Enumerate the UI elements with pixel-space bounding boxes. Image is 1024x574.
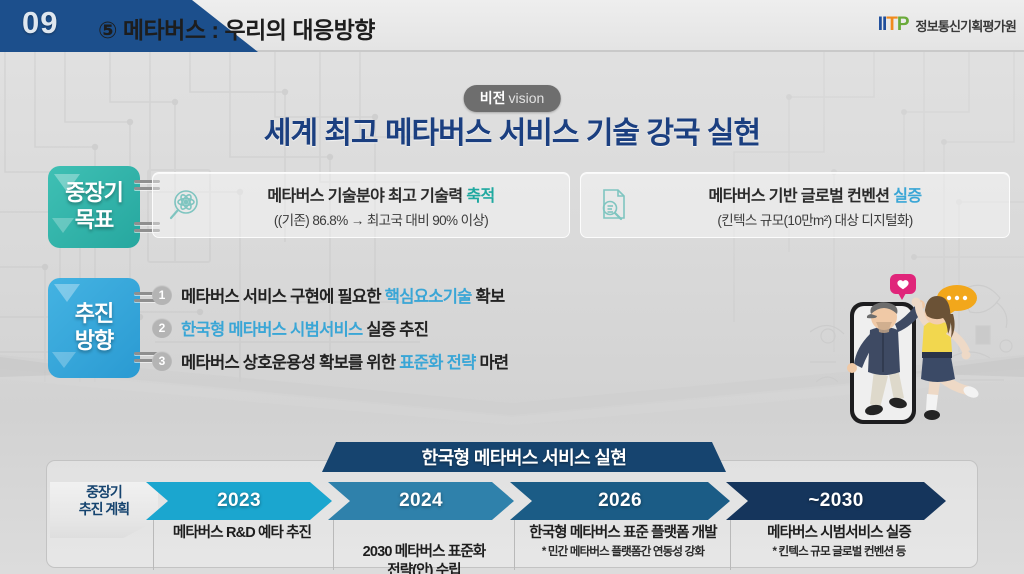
triangle-decor-icon [52, 352, 76, 368]
document-magnifier-icon [593, 187, 633, 223]
roadmap-divider [730, 520, 731, 570]
list-item-prefix: 메타버스 상호운용성 확보를 위한 [181, 354, 399, 372]
list-item-highlight: 한국형 메타버스 시범서비스 [181, 321, 363, 339]
goal-main-prefix: 메타버스 기술분야 최고 기술력 [267, 188, 466, 205]
tab-label-line1: 추진 [75, 301, 113, 328]
section-tab-midterm-goal: 중장기 목표 [48, 166, 140, 248]
roadmap-divider [514, 520, 515, 570]
list-item: 2 한국형 메타버스 시범서비스 실증 추진 [152, 311, 852, 344]
roadmap-year-2023: 2023 [146, 482, 332, 520]
organization-name: 정보통신기획평가원 [916, 16, 1016, 35]
roadmap-year-label: ~2030 [808, 490, 863, 512]
slide-root: 09 ⑤ 메타버스 : 우리의 대응방향 IITP 정보통신기획평가원 비전vi… [0, 0, 1024, 574]
roadmap-body-2023: 메타버스 R&D 예타 추진 [152, 524, 332, 543]
triangle-decor-icon [54, 284, 80, 302]
list-item-number: 1 [152, 285, 172, 305]
roadmap-body-text: 한국형 메타버스 표준 플랫폼 개발 [516, 524, 730, 543]
goal-card-text: 메타버스 기반 글로벌 컨벤션 실증 (킨텍스 규모(10만m²) 대상 디지털… [633, 182, 997, 229]
roadmap-year-2030: ~2030 [726, 482, 946, 520]
goal-card-subtext: ((기존) 86.8% → 최고국 대비 90% 이상) [205, 209, 557, 229]
goal-card-subtext: (킨텍스 규모(10만m²) 대상 디지털화) [633, 209, 997, 229]
list-item: 3 메타버스 상호운용성 확보를 위한 표준화 전략 마련 [152, 345, 852, 378]
roadmap-ribbon-title: 한국형 메타버스 서비스 실현 [322, 442, 726, 472]
list-item-suffix: 마련 [476, 354, 509, 372]
triangle-decor-icon [54, 174, 80, 192]
roadmap-label-line1: 중장기 [86, 484, 122, 501]
list-item-prefix: 메타버스 서비스 구현에 필요한 [181, 288, 385, 306]
roadmap-label-line2: 추진 계획 [79, 501, 129, 518]
list-item-label: 메타버스 서비스 구현에 필요한 핵심요소기술 확보 [181, 283, 505, 307]
list-item-suffix: 실증 추진 [363, 321, 429, 339]
metaverse-avatars-phone-illustration [810, 262, 1020, 442]
list-item-suffix: 확보 [472, 288, 505, 306]
list-item: 1 메타버스 서비스 구현에 필요한 핵심요소기술 확보 [152, 278, 852, 311]
slide-header: 09 ⑤ 메타버스 : 우리의 대응방향 IITP 정보통신기획평가원 [0, 0, 1024, 52]
list-item-label: 메타버스 상호운용성 확보를 위한 표준화 전략 마련 [181, 349, 508, 373]
roadmap-year-2024: 2024 [328, 482, 514, 520]
tab-label-line2: 방향 [75, 328, 113, 355]
vision-badge-en: vision [508, 90, 544, 106]
roadmap-divider [333, 520, 334, 570]
organization-logo: IITP 정보통신기획평가원 [878, 14, 1016, 36]
direction-list: 1 메타버스 서비스 구현에 필요한 핵심요소기술 확보 2 한국형 메타버스 … [152, 278, 852, 378]
list-item-highlight: 표준화 전략 [399, 354, 475, 372]
list-item-label: 한국형 메타버스 시범서비스 실증 추진 [181, 316, 428, 340]
goal-card-technology: 메타버스 기술분야 최고 기술력 축적 ((기존) 86.8% → 최고국 대비… [152, 172, 570, 238]
heart-emoji-bubble [890, 274, 916, 300]
roadmap-body-2024: 2030 메타버스 표준화 전략(안) 수립 [334, 524, 514, 574]
goal-card-headline: 메타버스 기반 글로벌 컨벤션 실증 [633, 182, 997, 206]
roadmap-year-label: 2023 [217, 490, 261, 512]
list-item-number: 2 [152, 318, 172, 338]
roadmap-body-text: 2030 메타버스 표준화 전략(안) 수립 [334, 543, 514, 574]
roadmap-note-text: * 킨텍스 규모 글로벌 컨벤션 등 [732, 545, 946, 560]
list-item-number: 3 [152, 351, 172, 371]
goal-card-convention: 메타버스 기반 글로벌 컨벤션 실증 (킨텍스 규모(10만m²) 대상 디지털… [580, 172, 1010, 238]
triangle-decor-icon [52, 218, 74, 233]
roadmap-label: 중장기 추진 계획 [50, 482, 158, 520]
section-tab-direction: 추진 방향 [48, 278, 140, 378]
roadmap-body-text: 메타버스 시범서비스 실증 [732, 524, 946, 543]
roadmap-year-label: 2024 [399, 490, 443, 512]
roadmap-body-2026: 한국형 메타버스 표준 플랫폼 개발 * 민간 메타버스 플랫폼간 연동성 강화 [516, 524, 730, 560]
list-item-highlight: 핵심요소기술 [385, 288, 472, 306]
page-number: 09 [22, 5, 58, 41]
roadmap-body-text: 메타버스 R&D 예타 추진 [152, 524, 332, 543]
roadmap-note-text: * 민간 메타버스 플랫폼간 연동성 강화 [516, 545, 730, 560]
goal-card-text: 메타버스 기술분야 최고 기술력 축적 ((기존) 86.8% → 최고국 대비… [205, 182, 557, 229]
vision-title: 세계 최고 메타버스 서비스 기술 강국 실현 [0, 108, 1024, 152]
roadmap-body-2030: 메타버스 시범서비스 실증 * 킨텍스 규모 글로벌 컨벤션 등 [732, 524, 946, 560]
iitp-logo-icon: IITP [878, 14, 909, 36]
vision-badge-ko: 비전 [480, 90, 506, 106]
roadmap-divider [153, 520, 154, 570]
goal-main-highlight: 실증 [893, 188, 921, 205]
goal-main-highlight: 축적 [466, 188, 494, 205]
roadmap-year-label: 2026 [598, 490, 642, 512]
female-avatar [912, 296, 981, 420]
magnifier-atom-icon [165, 187, 205, 223]
tab-label-line2: 목표 [75, 207, 113, 234]
goal-card-headline: 메타버스 기술분야 최고 기술력 축적 [205, 182, 557, 206]
page-title: ⑤ 메타버스 : 우리의 대응방향 [98, 11, 375, 45]
goal-main-prefix: 메타버스 기반 글로벌 컨벤션 [708, 188, 893, 205]
roadmap-year-2026: 2026 [510, 482, 730, 520]
